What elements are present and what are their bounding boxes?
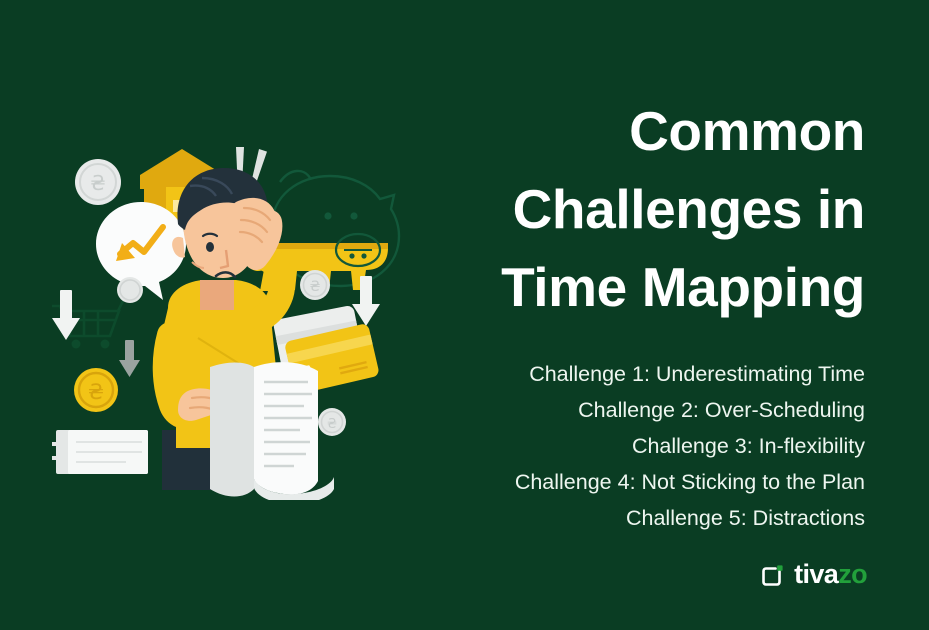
- list-item: Challenge 5: Distractions: [445, 500, 865, 536]
- list-item: Challenge 1: Underestimating Time: [445, 356, 865, 392]
- tivazo-logo: tivazo: [759, 561, 867, 588]
- logo-text-accent: zo: [838, 559, 867, 589]
- silver-coin-icon-small-1: [117, 277, 143, 303]
- svg-text:₴: ₴: [327, 417, 337, 432]
- svg-text:₴: ₴: [90, 171, 105, 195]
- illustration-stressed-man: ₴: [40, 130, 420, 500]
- text-column: Common Challenges in Time Mapping Challe…: [445, 92, 865, 536]
- tivazo-bracket-icon: [759, 562, 785, 588]
- banknotes-icon: [52, 430, 148, 474]
- silver-coin-icon: ₴: [75, 159, 121, 205]
- list-item: Challenge 2: Over-Scheduling: [445, 392, 865, 428]
- logo-text-primary: tiva: [794, 559, 838, 589]
- challenge-list: Challenge 1: Underestimating Time Challe…: [445, 356, 865, 536]
- silver-coin-icon-small-3: ₴: [318, 408, 346, 436]
- page-title: Common Challenges in Time Mapping: [445, 92, 865, 326]
- svg-text:₴: ₴: [88, 380, 104, 404]
- list-item: Challenge 4: Not Sticking to the Plan: [445, 464, 865, 500]
- svg-text:₴: ₴: [310, 279, 321, 295]
- silver-coin-icon-small-2: ₴: [300, 270, 330, 300]
- slide-canvas: ₴: [0, 0, 929, 630]
- title-line-3: Time Mapping: [445, 248, 865, 326]
- list-item: Challenge 3: In-flexibility: [445, 428, 865, 464]
- tivazo-wordmark: tivazo: [794, 561, 867, 588]
- gold-coin-icon: ₴: [74, 368, 118, 412]
- title-line-2: Challenges in: [445, 170, 865, 248]
- down-arrow-icon-small: [119, 340, 140, 377]
- down-arrow-icon-left: [52, 290, 80, 340]
- receipt-icon: [210, 362, 334, 500]
- title-line-1: Common: [445, 92, 865, 170]
